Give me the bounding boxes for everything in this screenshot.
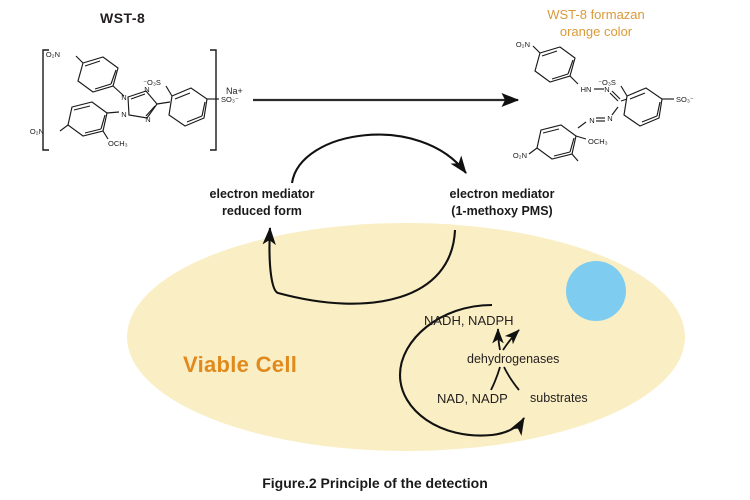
wst8-structure [43,50,219,150]
sodium-counter-ion-label: Na+ [226,86,243,96]
mediator-pms-line2: (1-methoxy PMS) [422,203,582,220]
mediator-pms-line1: electron mediator [422,186,582,203]
cell-nucleus [566,261,626,321]
svg-text:OCH₃: OCH₃ [588,137,608,146]
dehydrogenases-label: dehydrogenases [467,352,559,366]
svg-text:OCH₃: OCH₃ [108,139,128,148]
formazan-title-line1: WST-8 formazan [521,6,671,23]
viable-cell-body [127,223,685,451]
substrates-label: substrates [530,391,588,405]
svg-text:HN: HN [581,85,592,94]
diagram-graphics: O₂N O₂N OCH₃ ⁻O₃S SO₃⁻ N N N N [0,0,750,500]
svg-text:O₂N: O₂N [516,40,530,49]
svg-text:SO₃⁻: SO₃⁻ [221,95,239,104]
figure-caption: Figure.2 Principle of the detection [0,475,750,491]
svg-text:N: N [145,115,150,124]
viable-cell-label: Viable Cell [183,352,297,378]
mediator-reduced-line2: reduced form [197,203,327,220]
svg-text:O₂N: O₂N [513,151,527,160]
electron-mediator-reduced-label: electron mediator reduced form [197,186,327,220]
formazan-title: WST-8 formazan orange color [521,6,671,40]
figure-canvas: O₂N O₂N OCH₃ ⁻O₃S SO₃⁻ N N N N [0,0,750,500]
svg-text:N: N [604,85,609,94]
svg-text:N: N [589,116,594,125]
mediator-reduced-line1: electron mediator [197,186,327,203]
formazan-title-line2: orange color [521,23,671,40]
svg-text:N: N [607,114,612,123]
svg-text:N: N [121,93,126,102]
electron-mediator-pms-label: electron mediator (1-methoxy PMS) [422,186,582,220]
svg-text:N: N [121,110,126,119]
nadh-nadph-label: NADH, NADPH [424,313,514,328]
svg-text:O₂N: O₂N [30,127,44,136]
svg-text:SO₃⁻: SO₃⁻ [676,95,694,104]
nad-nadp-label: NAD, NADP [437,391,508,406]
wst8-title: WST-8 [100,10,145,26]
formazan-atom-labels: O₂N O₂N OCH₃ ⁻O₃S SO₃⁻ HN N N N [513,40,694,160]
svg-text:N: N [144,85,149,94]
mediator-oxidation-arrow [292,135,466,183]
svg-text:O₂N: O₂N [46,50,60,59]
